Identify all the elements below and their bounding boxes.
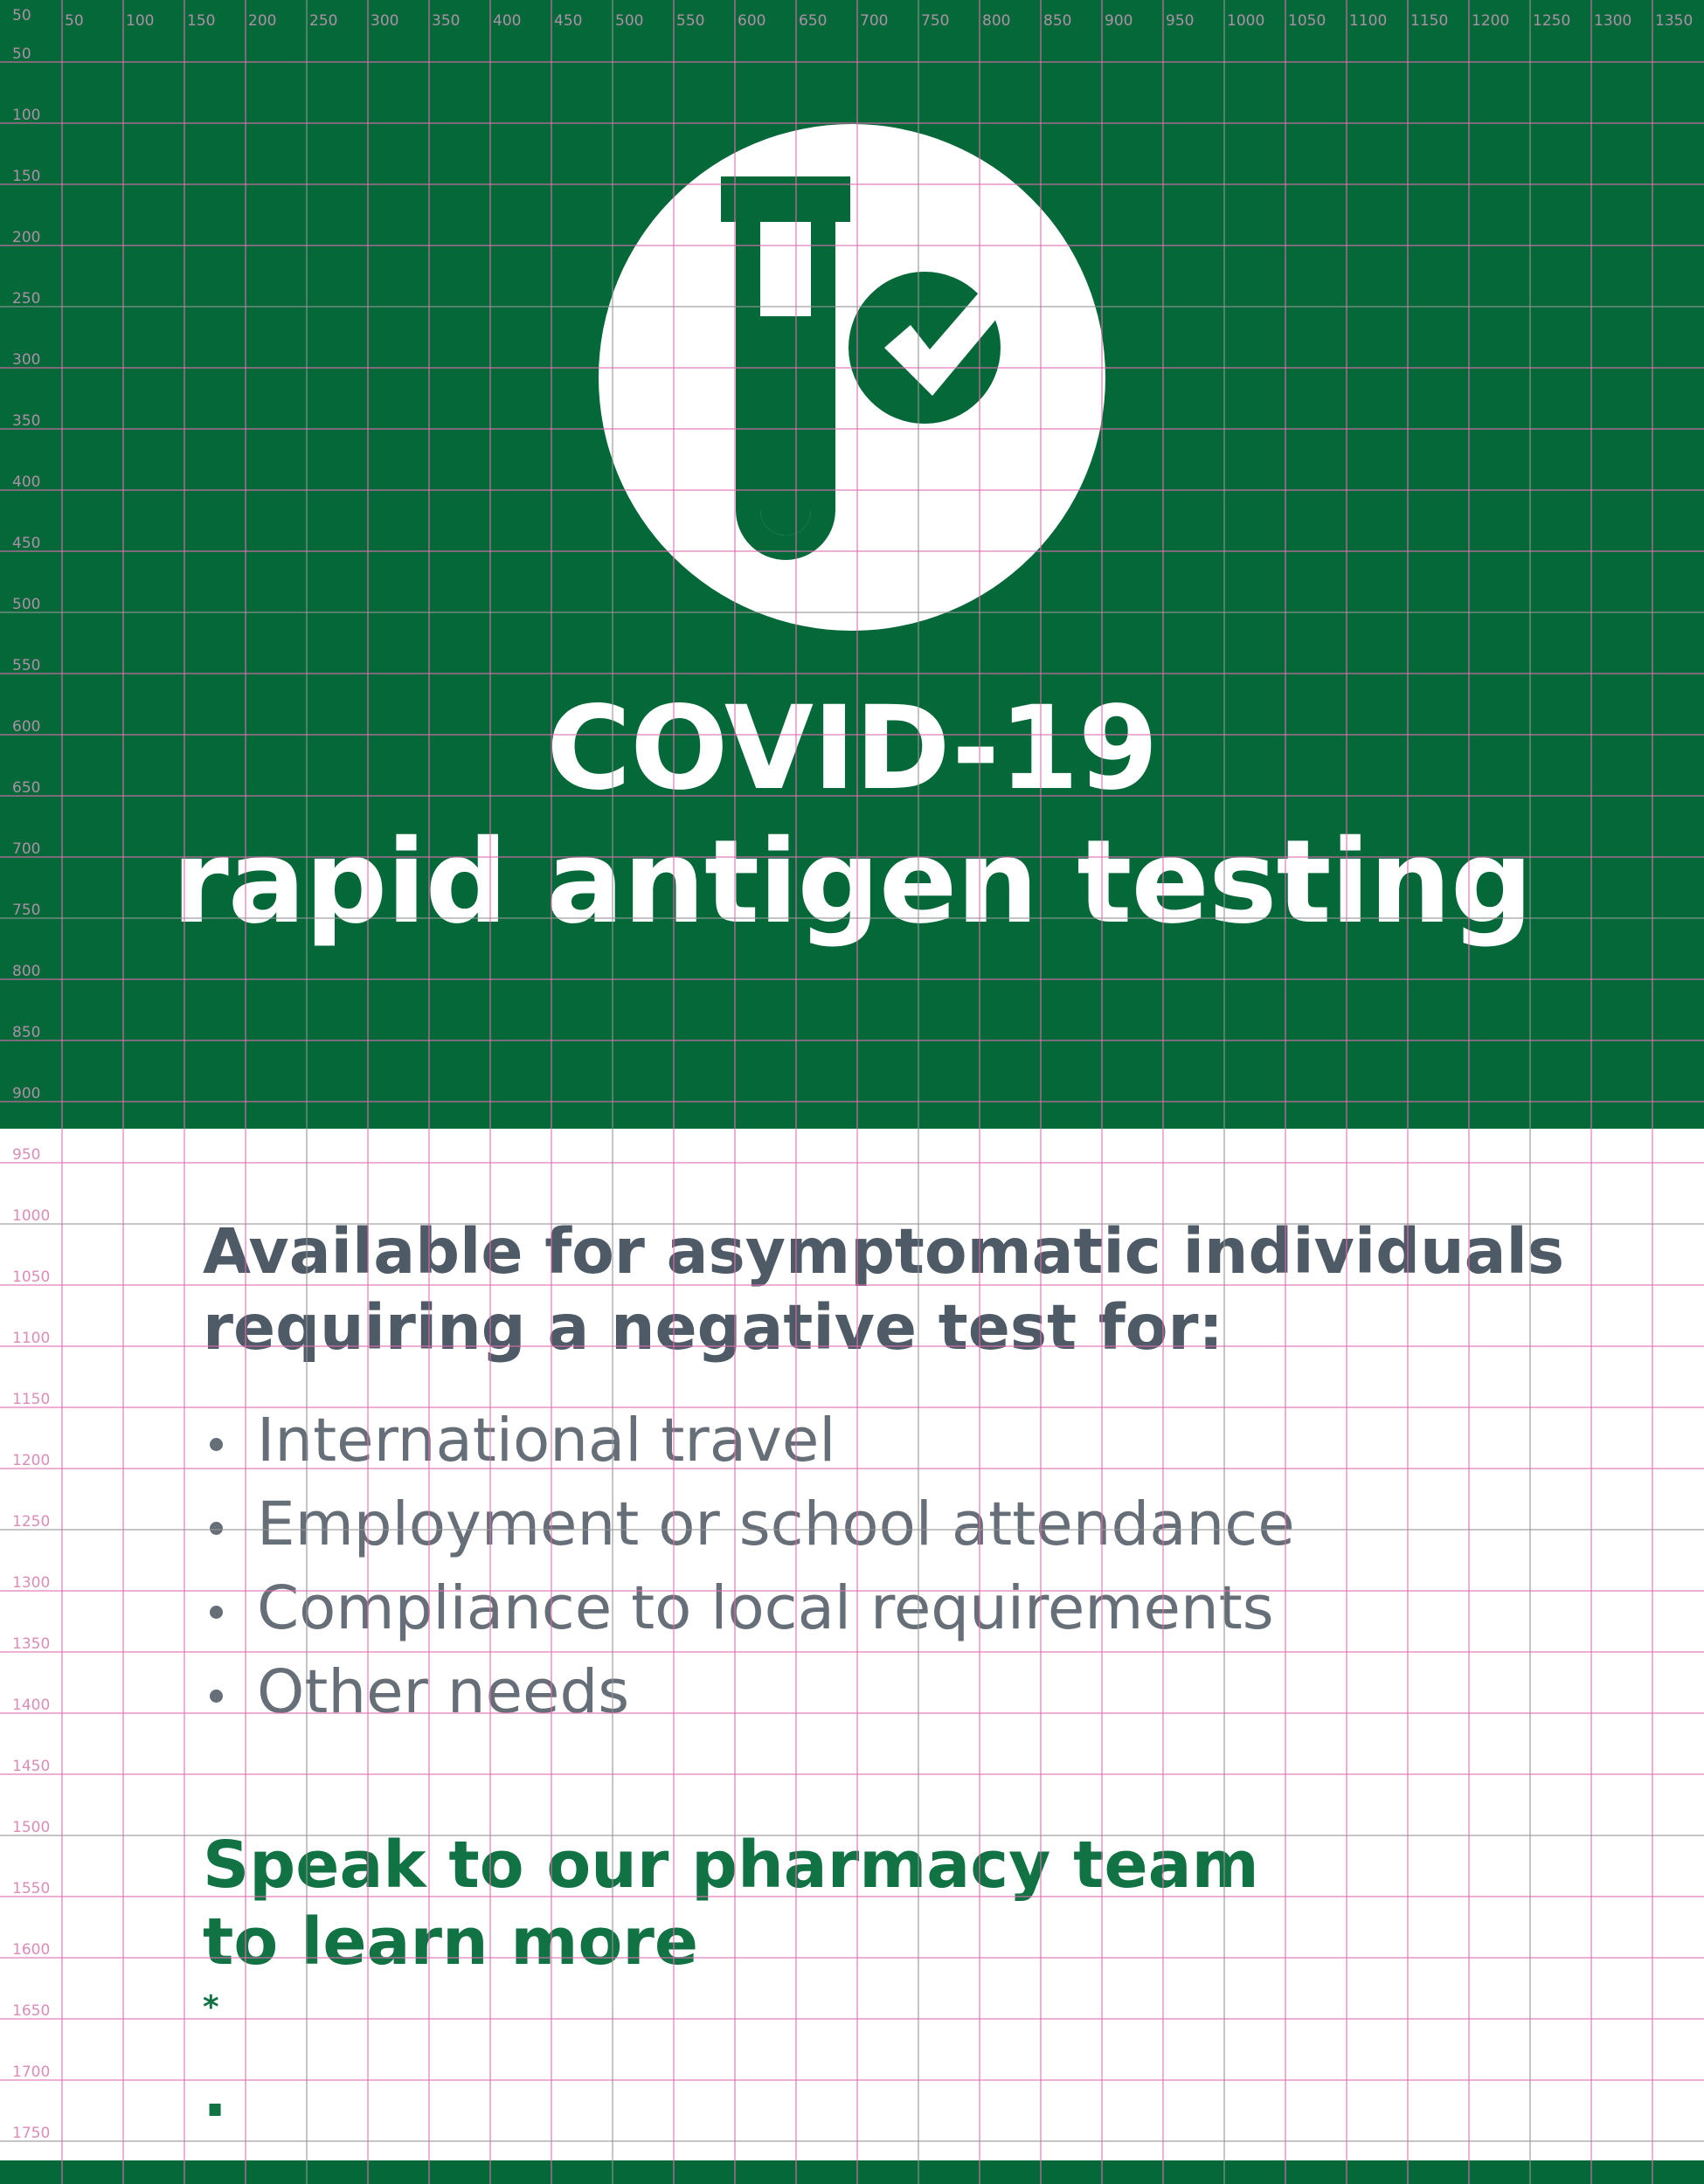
grid-label-y: 1350 — [12, 1635, 50, 1653]
bullet-dot-icon — [210, 1690, 223, 1703]
footnote-asterisk: * — [203, 1989, 219, 2025]
cta-line-2-text: to learn more — [203, 1904, 1566, 1980]
grid-label-y: 1250 — [12, 1513, 50, 1531]
grid-label-y: 1200 — [12, 1452, 50, 1469]
grid-label-y: 1500 — [12, 1819, 50, 1836]
lede-line-2: requiring a negative test for: — [203, 1290, 1566, 1366]
grid-label-y: 1150 — [12, 1391, 50, 1408]
grid-label-y: 1100 — [12, 1330, 50, 1347]
list-item: International travel — [203, 1411, 1566, 1471]
list-item-label: Compliance to local requirements — [257, 1573, 1274, 1643]
grid-label-y: 1050 — [12, 1268, 50, 1286]
grid-label-y: 1450 — [12, 1758, 50, 1775]
list-item: Employment or school attendance — [203, 1495, 1566, 1555]
call-to-action: Speak to our pharmacy team to learn more… — [203, 1828, 1566, 2132]
cta-line-2: to learn more*. — [203, 1904, 1566, 2133]
cta-line-2-period: . — [203, 2056, 1566, 2132]
grid-label-y: 1700 — [12, 2063, 50, 2081]
bullet-dot-icon — [210, 1522, 223, 1535]
cta-line-1: Speak to our pharmacy team — [203, 1828, 1566, 1904]
test-tube-with-check-icon — [703, 176, 1009, 578]
grid-label-y: 1000 — [12, 1207, 50, 1225]
logo — [599, 124, 1105, 631]
eligibility-list: International travel Employment or schoo… — [203, 1411, 1566, 1723]
list-item: Compliance to local requirements — [203, 1579, 1566, 1639]
list-item-label: International travel — [257, 1406, 835, 1476]
grid-label-y: 1600 — [12, 1941, 50, 1959]
grid-line-horizontal — [0, 2140, 1704, 2142]
bullet-dot-icon — [210, 1606, 223, 1619]
grid-label-y: 1400 — [12, 1697, 50, 1714]
grid-label-y: 1750 — [12, 2125, 50, 2142]
bullet-dot-icon — [210, 1438, 223, 1451]
list-item-label: Employment or school attendance — [257, 1489, 1295, 1559]
title-line-1: COVID-19 — [0, 690, 1704, 808]
grid-line-horizontal — [0, 1162, 1704, 1164]
poster-canvas: COVID-19 rapid antigen testing Available… — [0, 0, 1704, 2184]
list-item: Other needs — [203, 1662, 1566, 1723]
title-line-2: rapid antigen testing — [0, 824, 1704, 942]
list-item-label: Other needs — [257, 1657, 629, 1727]
grid-label-y: 1650 — [12, 2002, 50, 2020]
bottom-green-band — [0, 2160, 1704, 2184]
lede-paragraph: Available for asymptomatic individuals r… — [203, 1214, 1566, 1365]
lede-line-1: Available for asymptomatic individuals — [203, 1214, 1566, 1290]
grid-label-y: 1300 — [12, 1574, 50, 1592]
grid-label-y: 950 — [12, 1146, 40, 1164]
grid-label-y: 1550 — [12, 1880, 50, 1897]
page-title: COVID-19 rapid antigen testing — [0, 690, 1704, 941]
body-content: Available for asymptomatic individuals r… — [203, 1214, 1566, 2132]
